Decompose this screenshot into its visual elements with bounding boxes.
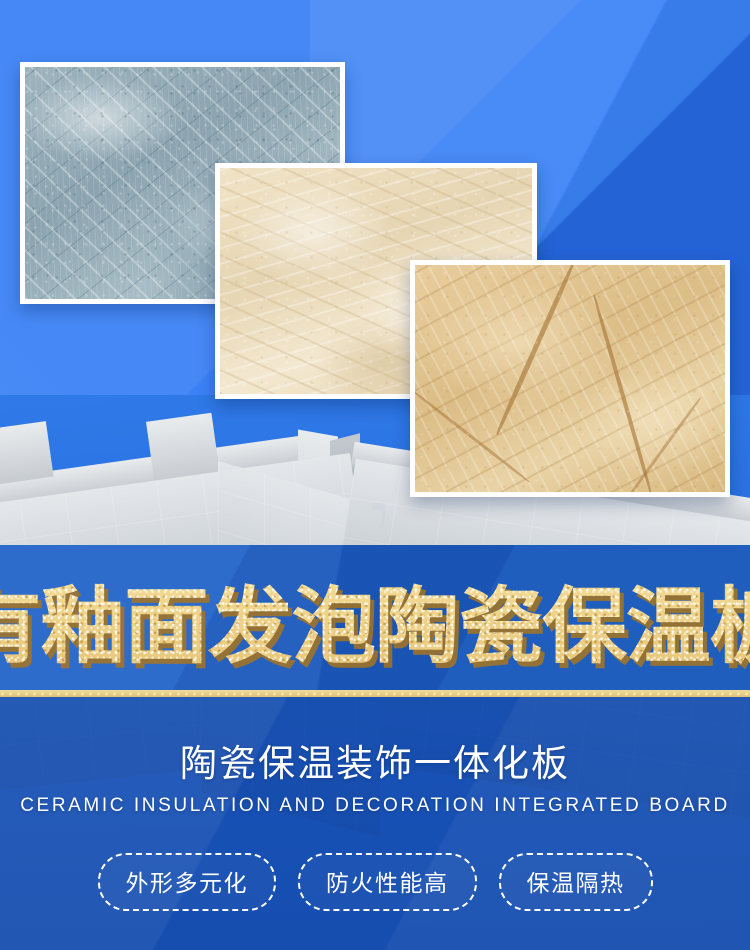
feature-badge-list: 外形多元化 防火性能高 保温隔热 — [0, 853, 750, 911]
feature-badge-thermal-insulation[interactable]: 保温隔热 — [499, 853, 653, 911]
product-sample-tile-3[interactable] — [410, 260, 730, 497]
camera-icon — [372, 502, 387, 511]
headline-title: 有釉面发泡陶瓷保温板 — [0, 545, 750, 693]
subtitle-english: CERAMIC INSULATION AND DECORATION INTEGR… — [0, 795, 750, 817]
feature-badge-fire-resistance[interactable]: 防火性能高 — [298, 853, 477, 911]
product-banner: 有釉面发泡陶瓷保温板 陶瓷保温装饰一体化板 CERAMIC INSULATION… — [0, 0, 750, 950]
roof-column-b — [0, 421, 54, 485]
subtitle-chinese: 陶瓷保温装饰一体化板 — [0, 733, 750, 787]
tile-speckle-texture — [415, 265, 725, 492]
gold-divider-bar — [0, 690, 750, 697]
feature-badge-shape-diversity[interactable]: 外形多元化 — [98, 853, 277, 911]
